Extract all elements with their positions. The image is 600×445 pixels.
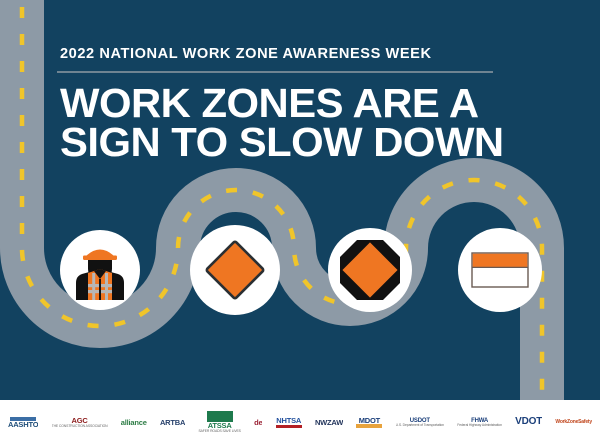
logo-de: de — [254, 410, 262, 436]
black-octagon-orange-diamond-icon — [337, 237, 403, 303]
headline-line-1: WORK ZONES ARE A — [60, 84, 539, 123]
logo-usdot: USDOT U.S. Department of Transportation — [396, 410, 444, 436]
logo-vdot: VDOT — [515, 410, 542, 436]
logo-alliance: alliance — [121, 410, 147, 436]
logo-mdot: MDOT — [356, 410, 382, 436]
work-zone-awareness-poster: 2022 NATIONAL WORK ZONE AWARENESS WEEK W… — [0, 0, 600, 445]
badge-octagon-sign — [328, 228, 412, 312]
partner-logo-bar: AASHTO AGC THE CONSTRUCTION ASSOCIATION … — [0, 400, 600, 445]
logo-nwzaw: NWZAW — [315, 410, 343, 436]
orange-white-barricade-icon — [467, 237, 533, 303]
header-divider — [57, 71, 493, 73]
poster-headline: WORK ZONES ARE A SIGN TO SLOW DOWN — [60, 84, 539, 162]
badge-barricade-sign — [458, 228, 542, 312]
logo-aashto: AASHTO — [8, 410, 38, 436]
logo-atssa: ATSSA SAFER ROADS SAVE LIVES — [198, 410, 240, 436]
orange-diamond-sign-icon — [199, 234, 271, 306]
logo-artba: ARTBA — [160, 410, 185, 436]
headline-line-2: SIGN TO SLOW DOWN — [60, 123, 539, 162]
poster-eyebrow-title: 2022 NATIONAL WORK ZONE AWARENESS WEEK — [60, 44, 482, 64]
badge-diamond-warning-sign — [190, 225, 280, 315]
badge-roadway-worker — [60, 230, 140, 310]
logo-fhwa: FHWA Federal Highway Administration — [457, 410, 502, 436]
worker-vest-icon — [68, 238, 132, 302]
logo-agc: AGC THE CONSTRUCTION ASSOCIATION — [52, 410, 108, 436]
logo-mdot-mark — [356, 424, 382, 428]
logo-nhtsa: NHTSA — [276, 410, 302, 436]
logo-workzonesafety: WorkZoneSafety — [555, 410, 592, 436]
logo-nhtsa-mark — [276, 425, 302, 428]
